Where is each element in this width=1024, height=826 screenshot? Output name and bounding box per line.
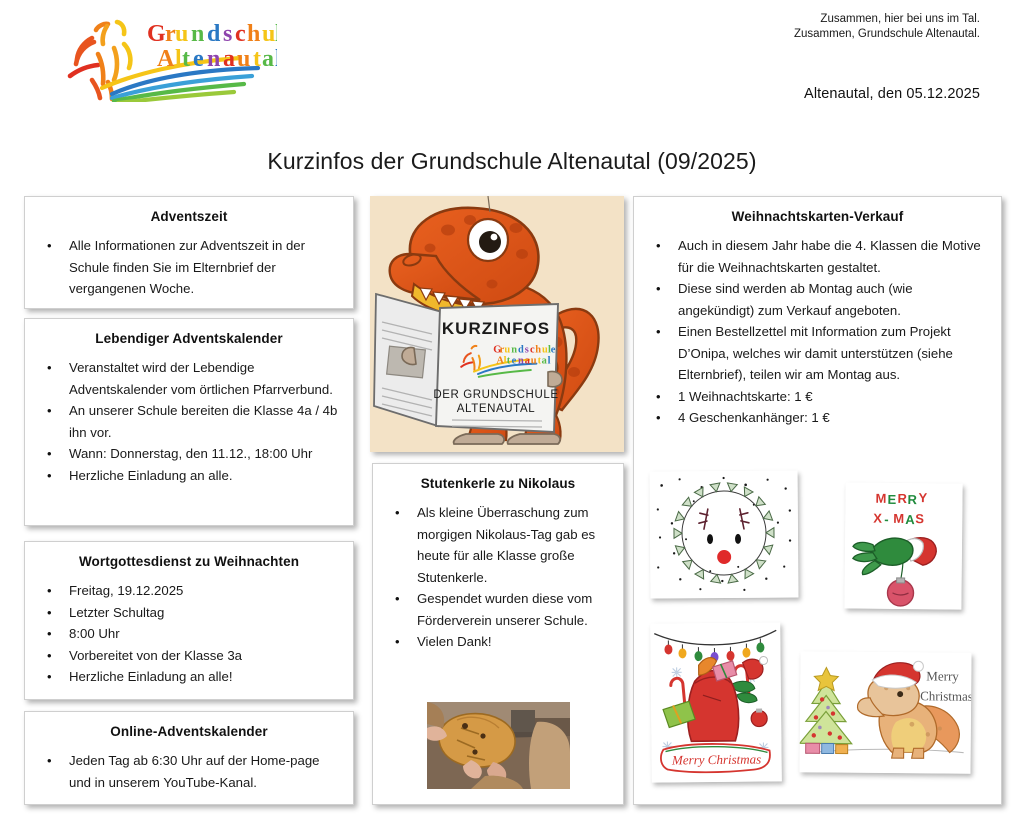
svg-text:u: u [175,21,189,47]
list-item: 1 Weihnachtskarte: 1 € [678,386,989,408]
svg-text:t: t [538,356,542,367]
svg-text:c: c [235,21,246,47]
list-item: Vielen Dank! [417,631,611,653]
list-item: Jeden Tag ab 6:30 Uhr auf der Home-page … [69,750,341,793]
card-online-list: Jeden Tag ab 6:30 Uhr auf der Home-page … [25,750,353,793]
list-item: 8:00 Uhr [69,623,341,645]
card-adventszeit-heading: Adventszeit [25,197,353,224]
svg-text:a: a [262,46,275,72]
school-motto: Zusammen, hier bei uns im Tal. Zusammen,… [794,12,980,42]
svg-text:Y: Y [918,490,929,505]
svg-text:c: c [530,344,535,355]
svg-text:t: t [182,46,191,72]
document-page: G r u n d s c h u l e A l t e n a [0,0,1024,826]
svg-text:t: t [507,356,511,367]
card-stutenkerle-list: Als kleine Überraschung zum morgigen Nik… [373,502,623,653]
card-weihnachtskarten-heading: Weihnachtskarten-Verkauf [634,197,1001,224]
svg-text:l: l [275,21,277,47]
svg-text:A: A [157,46,175,72]
svg-text:l: l [504,356,507,367]
newspaper-headline: KURZINFOS [442,319,550,338]
christmas-card-sack-image: Merry Christmas [650,622,782,782]
svg-text:h: h [535,344,541,355]
svg-text:-: - [884,512,891,527]
svg-text:s: s [223,21,233,47]
list-item: Letzter Schultag [69,602,341,624]
card-adventszeit-list: Alle Informationen zur Adventszeit in de… [25,235,353,300]
list-item: Herzliche Einladung an alle. [69,465,341,487]
page-title: Kurzinfos der Grundschule Altenautal (09… [0,148,1024,175]
dino-card-text-2: Christmas [920,688,971,703]
svg-text:S: S [915,511,926,526]
svg-text:a: a [542,356,548,367]
list-item: Vorbereitet von der Klasse 3a [69,645,341,667]
svg-text:G: G [147,21,166,47]
dino-card-text-1: Merry [926,668,959,683]
svg-text:l: l [275,46,277,72]
card-online-heading: Online-Adventskalender [25,712,353,739]
list-item: Veranstaltet wird der Lebendige Adventsk… [69,357,341,400]
stutenkerl-photo [427,702,570,789]
svg-text:e: e [193,46,204,72]
christmas-card-reindeer-image [650,470,799,598]
dateline: Altenautal, den 05.12.2025 [804,86,980,102]
list-item: Freitag, 19.12.2025 [69,580,341,602]
card-lebendiger-adventskalender: Lebendiger Adventskalender Veranstaltet … [24,318,354,526]
newspaper-subline-2: ALTENAUTAL [457,403,535,415]
svg-text:r: r [500,344,505,355]
svg-text:d: d [518,344,524,355]
svg-text:s: s [525,344,529,355]
list-item: Einen Bestellzettel mit Information zum … [678,321,989,386]
svg-text:a: a [525,356,531,367]
svg-text:u: u [504,344,510,355]
newspaper-subline-1: DER GRUNDSCHULE [433,389,558,401]
svg-text:e: e [551,344,556,355]
card-lebendiger-list: Veranstaltet wird der Lebendige Adventsk… [25,357,353,486]
card-lebendiger-heading: Lebendiger Adventskalender [25,319,353,346]
motto-line-2: Zusammen, Grundschule Altenautal. [794,27,980,42]
svg-text:e: e [512,356,517,367]
svg-text:l: l [548,356,551,367]
svg-text:d: d [207,21,221,47]
svg-text:u: u [531,356,537,367]
svg-text:h: h [247,21,261,47]
list-item: Diese sind werden ab Montag auch (wie an… [678,278,989,321]
card-wortgottesdienst-heading: Wortgottesdienst zu Weihnachten [25,542,353,569]
christmas-card-grinch-image: M E R R Y X - M A S [844,482,962,609]
card-wortgottesdienst-list: Freitag, 19.12.2025 Letzter Schultag 8:0… [25,580,353,688]
svg-text:a: a [223,46,236,72]
svg-text:u: u [262,21,276,47]
card-online-adventskalender: Online-Adventskalender Jeden Tag ab 6:30… [24,711,354,805]
svg-text:n: n [207,46,221,72]
list-item: Alle Informationen zur Adventszeit in de… [69,235,341,300]
grinch-card-text-2: X [873,511,884,526]
list-item: Als kleine Überraschung zum morgigen Nik… [417,502,611,588]
list-item: Wann: Donnerstag, den 11.12., 18:00 Uhr [69,443,341,465]
svg-text:n: n [511,344,517,355]
card-wortgottesdienst: Wortgottesdienst zu Weihnachten Freitag,… [24,541,354,700]
motto-line-1: Zusammen, hier bei uns im Tal. [794,12,980,27]
svg-text:t: t [253,46,262,72]
dino-newspaper-image: KURZINFOS Gr un ds [370,196,624,452]
list-item: Auch in diesem Jahr habe die 4. Klassen … [678,235,989,278]
svg-text:u: u [542,344,548,355]
list-item: 4 Geschenkanhänger: 1 € [678,407,989,429]
page-header: G r u n d s c h u l e A l t e n a [0,0,1024,125]
christmas-card-dino-image: Merry Christmas [799,651,971,773]
list-item: An unserer Schule bereiten die Klasse 4a… [69,400,341,443]
svg-text:u: u [237,46,251,72]
list-item: Gespendet wurden diese vom Förderverein … [417,588,611,631]
svg-text:A: A [496,356,504,367]
list-item: Herzliche Einladung an alle! [69,666,341,688]
svg-text:n: n [191,21,205,47]
school-logo: G r u n d s c h u l e A l t e n a [62,14,277,102]
card-weihnachtskarten-list: Auch in diesem Jahr habe die 4. Klassen … [634,235,1001,429]
sack-card-text: Merry Christmas [671,752,761,768]
card-stutenkerle-heading: Stutenkerle zu Nikolaus [373,464,623,491]
svg-text:n: n [518,356,524,367]
card-adventszeit: Adventszeit Alle Informationen zur Adven… [24,196,354,309]
